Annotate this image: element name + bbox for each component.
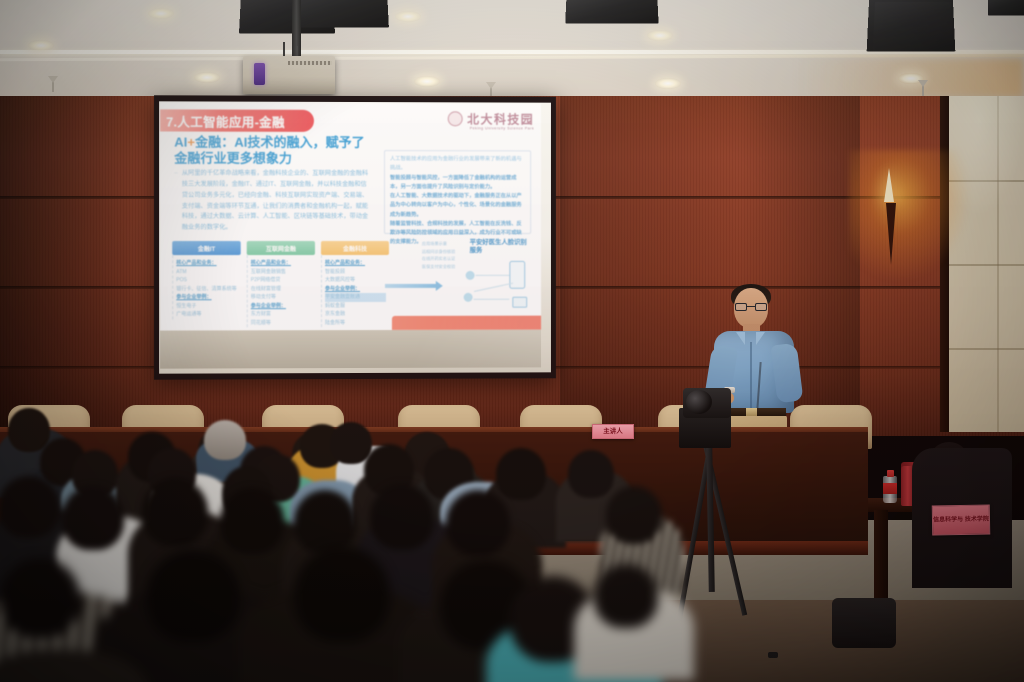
slide-logo-text: 北大科技园 — [467, 113, 534, 125]
slide-column-item: ATM — [176, 268, 237, 277]
slide-column-item: 大数据风控等 — [325, 276, 386, 285]
audience-head — [496, 448, 546, 500]
audience-head — [370, 484, 434, 550]
lecture-hall-photo: 7.人工智能应用-金融 北大科技园 Peking University Scie… — [0, 0, 1024, 682]
slide-right-bullet: 人工智能技术的应用为金融行业的发展带来了新的机遇与挑战。 — [390, 155, 525, 174]
slide-footer-accent-bar — [392, 316, 541, 330]
slide-logo-subtext: Peking University Science Park — [470, 126, 534, 130]
user-avatar-icon — [466, 271, 475, 280]
slide-heading-plus: + — [187, 135, 195, 150]
slide-column-item-highlighted: 平安金融壹账通 — [325, 293, 386, 302]
smartphone-icon — [509, 261, 525, 289]
slide-diagram-notes: 应用场景示意 远程问诊身份核验 在线开药实名认证 医保支付安全校验 — [422, 240, 470, 270]
slide-diagram-title: 平安好医生人脸识别服务 — [470, 239, 532, 256]
slide-column-body: 核心产品和业务： ATM POS 银行卡、征信、清算系统等 参与企业举例： 恒生… — [172, 255, 240, 319]
projection-screen: 7.人工智能应用-金融 北大科技园 Peking University Scie… — [154, 95, 556, 379]
ceiling-hanger-cone — [48, 76, 58, 83]
slide-column-body: 核心产品和业务： 智能投顾 大数据风控等 参与企业举例： 平安金融壹账通 蚂蚁金… — [321, 255, 389, 327]
audience-head-grey — [204, 420, 246, 460]
slide-left-bullet-text: 从阿里的千亿革命战略来看，金融科技企业的、互联网金融的金融科技三大发展阶段，金融… — [182, 169, 371, 234]
ceiling-hanger-cone — [918, 80, 928, 87]
slide-column-item: 同花顺等 — [251, 319, 312, 328]
slide-title: 7.人工智能应用-金融 — [166, 111, 285, 130]
slide-diagram-note: 在线开药实名认证 — [422, 255, 470, 263]
audience-head — [568, 450, 614, 498]
slide-column-section-label: 核心产品和业务： — [325, 259, 386, 268]
eyeglasses-icon — [735, 303, 767, 311]
slide-column-item: 京东金融 — [325, 310, 386, 319]
diagram-connector — [476, 275, 510, 276]
diagram-connector — [474, 283, 513, 292]
downlight — [414, 76, 440, 87]
slide-column-section-label: 参与企业举例： — [325, 284, 386, 293]
ceiling-speaker-box — [873, 2, 953, 51]
audience-head — [142, 478, 208, 546]
audience-head — [8, 408, 50, 452]
ceiling-hanger-cone — [486, 82, 496, 89]
slide-column-item: 广电运通等 — [176, 310, 237, 319]
audience-head — [0, 476, 60, 538]
presenter-collar-right — [756, 332, 765, 345]
slide-column-item: 蚂蚁金服 — [325, 301, 386, 310]
audience — [0, 410, 1024, 682]
downlight — [655, 78, 681, 89]
ceiling-acoustic-panel — [988, 0, 1024, 16]
logo-seal-icon — [448, 111, 463, 126]
slide-heading-lead: AI — [174, 135, 187, 150]
slide-heading: AI+金融：AI技术的融入，赋予了金融行业更多想象力 — [174, 135, 375, 168]
slide-diagram-note: 医保支付安全校验 — [422, 263, 470, 271]
slide-column: 金融科技 核心产品和业务： 智能投顾 大数据风控等 参与企业举例： 平安金融壹账… — [321, 241, 389, 327]
slide-column-section-label: 核心产品和业务： — [251, 259, 312, 268]
slide-comparison-columns: 金融IT 核心产品和业务： ATM POS 银行卡、征信、清算系统等 参与企业举… — [172, 241, 393, 327]
eyeglass-bridge — [747, 306, 755, 307]
slide-column: 金融IT 核心产品和业务： ATM POS 银行卡、征信、清算系统等 参与企业举… — [172, 241, 240, 327]
slide-diagram-note: 远程问诊身份核验 — [422, 248, 470, 256]
presentation-slide: 7.人工智能应用-金融 北大科技园 Peking University Scie… — [160, 102, 541, 330]
audience-head — [294, 490, 356, 554]
slide-column-item: P2P网络借贷 — [251, 276, 312, 285]
wall-sconce-stem — [886, 203, 896, 265]
slide-column-header: 互联网金融 — [247, 241, 315, 255]
slide-right-bullet: 在人工智能、大数据技术的驱动下，金融服务正在从以产品为中心转向以客户为中心，个性… — [390, 192, 525, 220]
slide-diagram-note-heading: 应用场景示意 — [422, 240, 470, 248]
audience-head — [294, 546, 390, 642]
slide-column-item: 东方财富 — [251, 310, 312, 319]
slide-column-section-label: 参与企业举例： — [176, 293, 237, 302]
audience-head — [606, 486, 662, 544]
slide-column-section-label: 核心产品和业务： — [176, 259, 237, 268]
slide-right-column: 人工智能技术的应用为金融行业的发展带来了新的机遇与挑战。 智能投顾与智能风控，一… — [384, 150, 531, 234]
projector-lens — [254, 63, 265, 85]
downlight — [395, 11, 421, 22]
ceiling-acoustic-panel — [295, 0, 389, 27]
downlight — [148, 8, 174, 19]
panel-joint — [949, 348, 1024, 350]
slide-left-bullet: – 从阿里的千亿革命战略来看，金融科技企业的、互联网金融的金融科技三大发展阶段，… — [174, 169, 371, 234]
slide-right-bullet: 智能投顾与智能风控，一方面降低了金融机构的运营成本，另一方面也提升了风险识别与定… — [390, 174, 525, 193]
slide-column: 互联网金融 核心产品和业务： 互联网金融销售 P2P网络借贷 在线财富管理 移动… — [247, 241, 315, 327]
ceiling-acoustic-panel — [565, 0, 658, 24]
slide-title-bar: 7.人工智能应用-金融 — [160, 109, 314, 132]
audience-head — [594, 564, 658, 628]
audience-head — [146, 550, 240, 642]
wall-sconce-shade — [884, 168, 894, 202]
projection-screen-lower-band — [160, 330, 541, 369]
downlight — [28, 40, 54, 51]
slide-column-item: 移动支付等 — [251, 293, 312, 302]
downlight — [194, 72, 220, 83]
slide-column-header: 金融科技 — [321, 241, 389, 255]
presenter-collar-left — [736, 332, 745, 345]
slide-column-item: 互联网金融销售 — [251, 268, 312, 277]
wall-panel-edge — [940, 96, 949, 432]
bullet-dash-icon: – — [174, 169, 177, 234]
presenter-shirt-placket — [750, 342, 752, 408]
slide-column-item: POS — [176, 276, 237, 285]
eyeglass-lens — [735, 303, 747, 311]
slide-diagram: 平安好医生人脸识别服务 应用场景示意 远程问诊身份核验 在线开药实名认证 医保支… — [422, 239, 533, 323]
slide-column-body: 核心产品和业务： 互联网金融销售 P2P网络借贷 在线财富管理 移动支付等 参与… — [247, 255, 315, 327]
wall-shadow-left — [0, 96, 170, 436]
downlight — [647, 30, 673, 41]
audience-head — [220, 488, 284, 554]
tablet-icon — [512, 297, 527, 308]
panel-joint — [949, 264, 1024, 266]
audience-head — [446, 490, 510, 556]
slide-heading-topic: 金融 — [195, 135, 221, 150]
slide-column-header: 金融IT — [172, 241, 240, 255]
slide-left-column: – 从阿里的千亿革命战略来看，金融科技企业的、互联网金融的金融科技三大发展阶段，… — [174, 169, 371, 234]
eyeglass-lens — [755, 303, 767, 311]
slide-column-item: 银行卡、征信、清算系统等 — [176, 285, 237, 294]
audience-head — [62, 486, 124, 550]
slide-column-item: 陆金所等 — [325, 318, 386, 327]
slide-logo: 北大科技园 — [448, 111, 534, 126]
diagram-connector — [474, 299, 510, 300]
slide-column-section-label: 参与企业举例： — [251, 302, 312, 311]
slide-column-item: 在线财富管理 — [251, 285, 312, 294]
slide-column-item: 智能投顾 — [325, 267, 386, 276]
panel-highlight — [949, 96, 1024, 216]
audience-head — [0, 558, 80, 638]
slide-column-item: 恒生电子 — [176, 302, 237, 311]
user-avatar-icon — [464, 293, 473, 302]
projector-vent — [288, 61, 332, 65]
